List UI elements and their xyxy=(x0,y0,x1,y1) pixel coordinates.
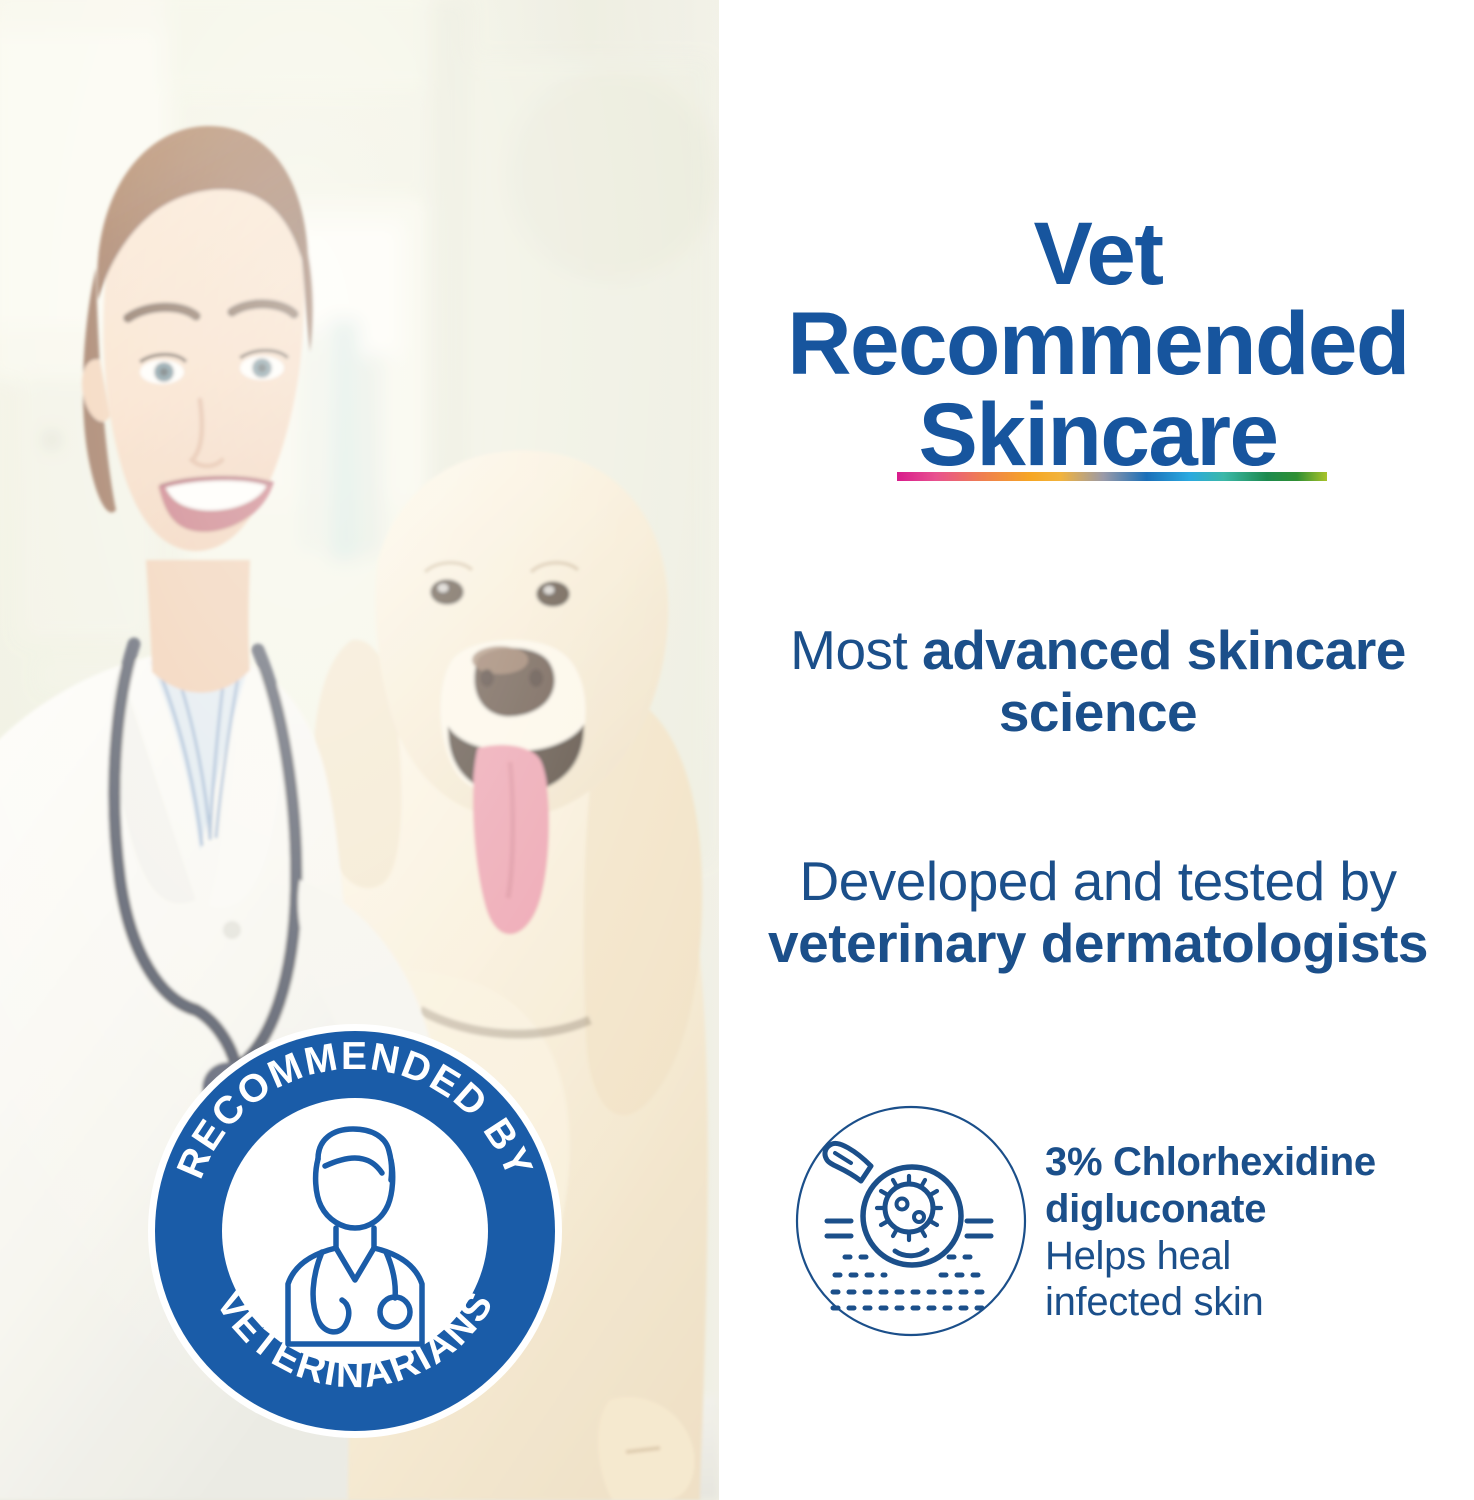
recommended-by-veterinarians-badge: RECOMMENDED BY VETERINARIANS xyxy=(146,1022,564,1440)
content-panel: Vet Recommended Skincare Most advanced s… xyxy=(719,0,1474,1500)
ingredient-text-block: 3% Chlorhexidine digluconate Helps heal … xyxy=(1045,1105,1474,1326)
benefit-1-regular: Developed and tested by xyxy=(800,850,1397,912)
benefit-vet-dermatologists: Developed and tested by veterinary derma… xyxy=(735,851,1461,974)
product-feature-graphic: RECOMMENDED BY VETERINARIANS xyxy=(0,0,1474,1500)
magnifier-bacteria-skin-icon xyxy=(795,1105,1027,1337)
benefit-0-bold: advanced skincare science xyxy=(922,619,1406,743)
benefit-advanced-science: Most advanced skincare science xyxy=(735,620,1461,743)
page-title: Vet Recommended Skincare xyxy=(735,208,1461,480)
benefit-0-regular: Most xyxy=(790,619,922,681)
headline-line-1: Vet xyxy=(735,208,1461,299)
benefit-1-bold: veterinary dermatologists xyxy=(768,912,1428,974)
ingredient-title: 3% Chlorhexidine digluconate xyxy=(1045,1139,1474,1233)
ingredient-description-line-2: infected skin xyxy=(1045,1279,1474,1326)
headline-line-2: Recommended xyxy=(735,298,1461,389)
rainbow-gradient-rule xyxy=(897,472,1327,481)
ingredient-description-line-1: Helps heal xyxy=(1045,1233,1474,1280)
ingredient-callout: 3% Chlorhexidine digluconate Helps heal … xyxy=(795,1105,1474,1337)
headline-line-3: Skincare xyxy=(735,389,1461,480)
